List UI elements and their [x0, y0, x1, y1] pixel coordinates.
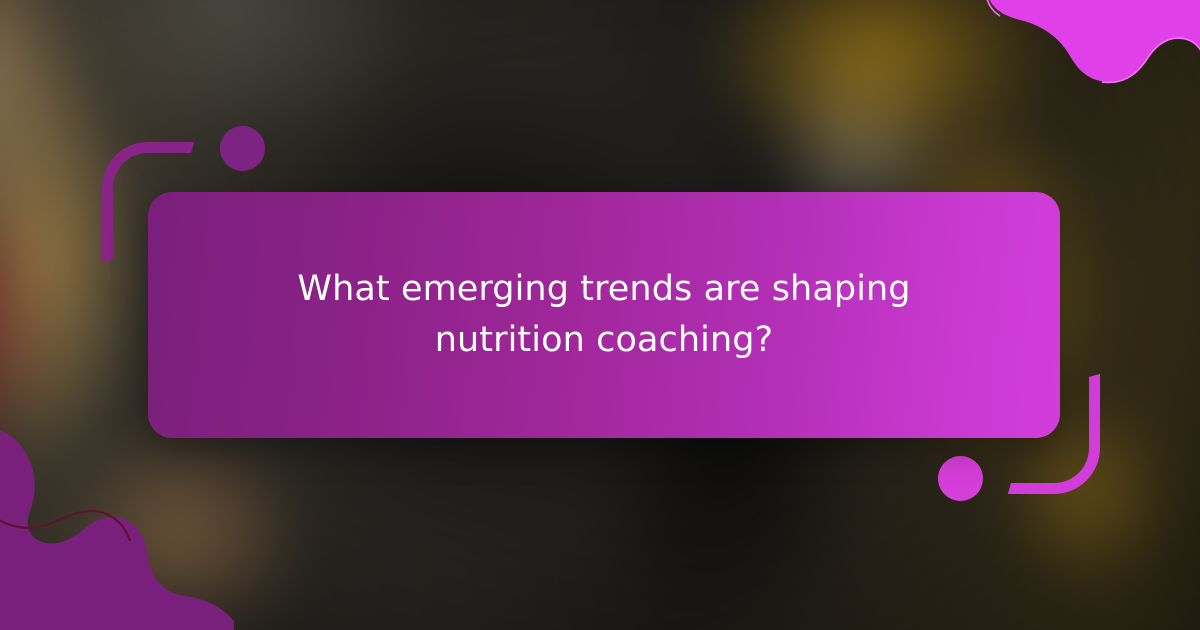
- accent-dot-top-left: [220, 126, 265, 171]
- quote-text: What emerging trends are shaping nutriti…: [224, 264, 984, 367]
- accent-dot-bottom-right: [938, 456, 983, 501]
- social-quote-card-canvas: What emerging trends are shaping nutriti…: [0, 0, 1200, 630]
- quote-card: What emerging trends are shaping nutriti…: [148, 192, 1060, 438]
